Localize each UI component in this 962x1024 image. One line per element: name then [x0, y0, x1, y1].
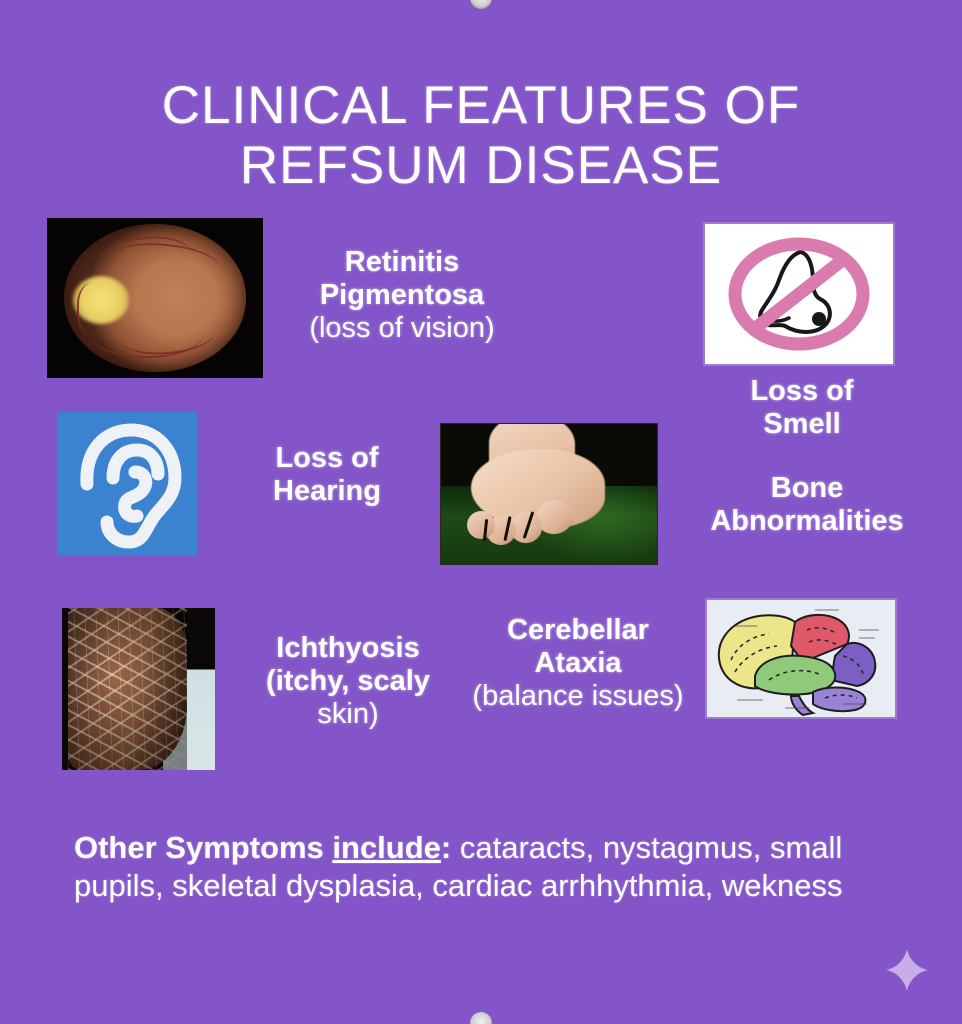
- leg-shading: [68, 608, 187, 770]
- caption-line-1: Bone: [771, 472, 844, 504]
- no-smell-sign: [703, 222, 895, 366]
- caption-line-1: Loss of: [275, 442, 378, 474]
- caption-retinitis-pigmentosa: Retinitis Pigmentosa (loss of vision): [272, 246, 532, 344]
- caption-loss-of-hearing: Loss of Hearing: [212, 442, 442, 508]
- ear-icon: [57, 412, 197, 556]
- caption-line-1: Cerebellar: [507, 614, 649, 646]
- ichthyosis-leg-photo: [62, 608, 215, 770]
- caption-line-2: Hearing: [273, 475, 381, 507]
- caption-loss-of-smell: Loss of Smell: [712, 375, 892, 441]
- caption-bone-abnormalities: Bone Abnormalities: [662, 472, 952, 538]
- caption-subtext: (balance issues): [452, 680, 704, 713]
- other-symptoms-lead: Other Symptoms: [74, 830, 332, 865]
- brain-diagram-icon: [707, 600, 895, 717]
- caption-ichthyosis: Ichthyosis (itchy, scaly skin): [238, 632, 458, 730]
- caption-line-1: Retinitis: [345, 246, 459, 278]
- retinal-vessel: [77, 282, 118, 336]
- leg-skin: [68, 608, 187, 770]
- other-symptoms-colon: :: [441, 830, 460, 865]
- caption-line-2: Ataxia: [534, 647, 621, 679]
- foot-photo: [440, 423, 658, 565]
- top-edge-dot: [470, 0, 492, 9]
- retinal-fundus-photo: [47, 218, 263, 378]
- sparkle-icon: [885, 948, 929, 992]
- title-line-2: REFSUM DISEASE: [0, 136, 962, 196]
- other-symptoms-include: include: [332, 830, 441, 865]
- caption-line-1: Ichthyosis: [276, 632, 419, 664]
- caption-line-2: Pigmentosa: [320, 279, 484, 311]
- caption-line-2: (itchy, scaly: [266, 665, 430, 697]
- caption-line-2: Smell: [763, 408, 840, 440]
- caption-line-1: Loss of: [750, 375, 853, 407]
- ear-icon-tile: [57, 412, 197, 556]
- foot-toe: [467, 511, 495, 539]
- sparkle-decoration: [885, 948, 929, 992]
- caption-subtext: (loss of vision): [272, 312, 532, 345]
- caption-line-2: Abnormalities: [710, 505, 903, 537]
- title-line-1: CLINICAL FEATURES OF: [162, 76, 800, 135]
- caption-subtext: skin): [238, 698, 458, 731]
- slide-root: CLINICAL FEATURES OF REFSUM DISEASE Reti…: [0, 0, 962, 1024]
- caption-cerebellar-ataxia: Cerebellar Ataxia (balance issues): [452, 614, 704, 712]
- other-symptoms-paragraph: Other Symptoms include: cataracts, nysta…: [74, 829, 930, 905]
- no-smell-icon: [705, 224, 893, 364]
- bottom-edge-dot: [470, 1012, 492, 1024]
- page-title: CLINICAL FEATURES OF REFSUM DISEASE: [0, 76, 962, 196]
- brain-lobes-diagram: [705, 598, 897, 719]
